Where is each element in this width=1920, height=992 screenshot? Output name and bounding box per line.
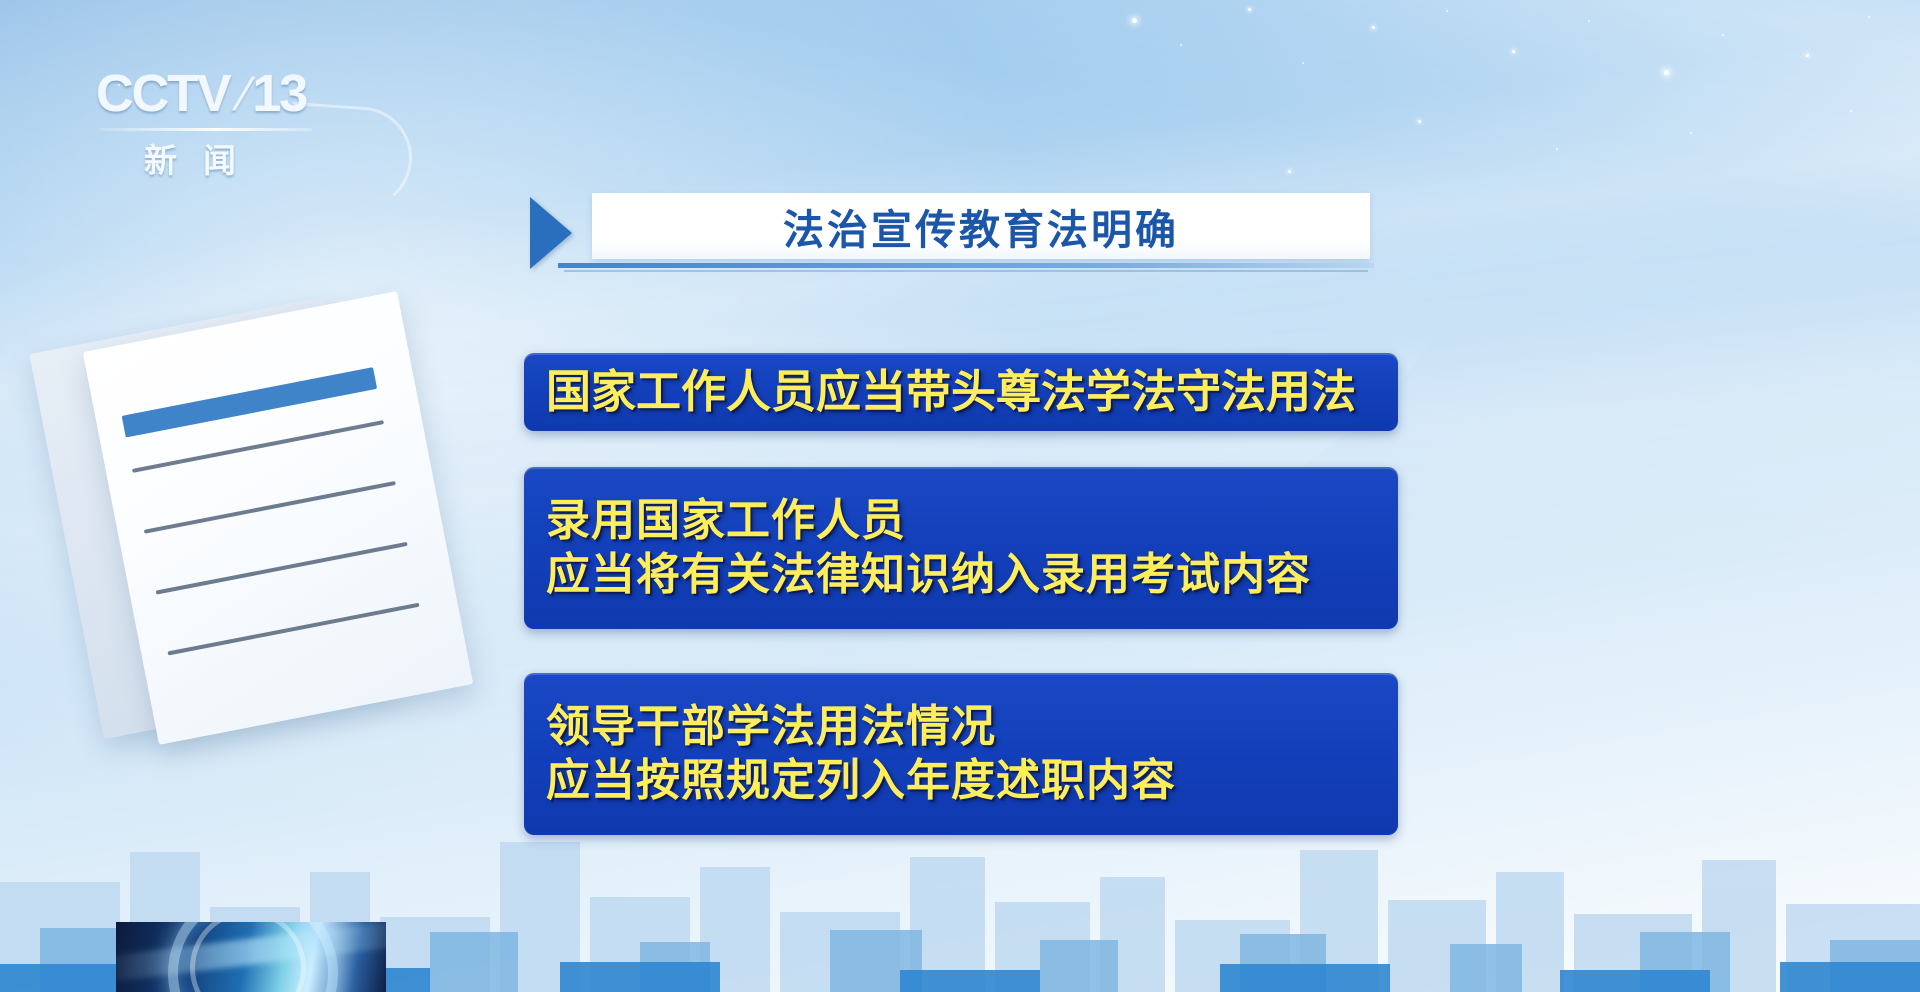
logo-subtitle: 新闻 [144, 134, 262, 182]
sparkle-star [1302, 62, 1304, 64]
sparkle-star [1556, 148, 1558, 150]
page-title: 法治宣传教育法明确 [783, 196, 1179, 256]
logo-channel-number: 13 [252, 64, 306, 124]
sparkle-star [1372, 26, 1375, 29]
headline-underline [558, 263, 1374, 268]
channel-logo: CCTV / 13 新闻 [92, 58, 352, 178]
sparkle-star [1664, 70, 1669, 75]
bullet-line: 录用国家工作人员 [546, 494, 1398, 548]
sparkle-star [1588, 20, 1590, 22]
bullet-box-2: 录用国家工作人员 应当将有关法律知识纳入录用考试内容 [524, 467, 1398, 629]
broadcast-frame: CCTV / 13 新闻 [0, 0, 1920, 992]
sparkle-star [1868, 16, 1870, 18]
document-header-bar [122, 367, 377, 437]
bullet-line: 领导干部学法用法情况 [546, 700, 1398, 754]
logo-cctv-text: CCTV [96, 64, 230, 124]
logo-wordmark: CCTV / 13 [96, 64, 306, 124]
sparkle-star [1132, 18, 1137, 23]
sparkle-star [1806, 54, 1809, 57]
headline-plate: 法治宣传教育法明确 [592, 193, 1370, 259]
broadcast-watermark [116, 922, 386, 992]
bullet-box-3: 领导干部学法用法情况 应当按照规定列入年度述职内容 [524, 673, 1398, 835]
sparkle-star [1850, 110, 1852, 112]
bullet-line: 国家工作人员应当带头尊法学法守法用法 [546, 365, 1398, 420]
bullet-line: 应当将有关法律知识纳入录用考试内容 [546, 548, 1398, 602]
sparkle-star [1690, 132, 1692, 134]
sparkle-star [1418, 120, 1421, 123]
sparkle-star [1512, 50, 1515, 53]
logo-underline [100, 128, 312, 131]
bullet-box-1: 国家工作人员应当带头尊法学法守法用法 [524, 353, 1398, 431]
sparkle-star [1180, 44, 1182, 46]
headline-bar: 法治宣传教育法明确 [530, 193, 1370, 271]
sparkle-star [1722, 34, 1724, 36]
document-text-line [156, 542, 408, 595]
bullet-line: 应当按照规定列入年度述职内容 [546, 754, 1398, 808]
headline-underline-thin [564, 270, 1368, 272]
sparkle-star [1248, 8, 1251, 11]
document-text-line [144, 481, 396, 534]
watermark-ring-inner [190, 922, 306, 992]
sparkle-star [1446, 10, 1448, 12]
sparkle-star [1288, 170, 1291, 173]
triangle-right-icon [530, 197, 572, 269]
document-text-line [167, 603, 419, 656]
